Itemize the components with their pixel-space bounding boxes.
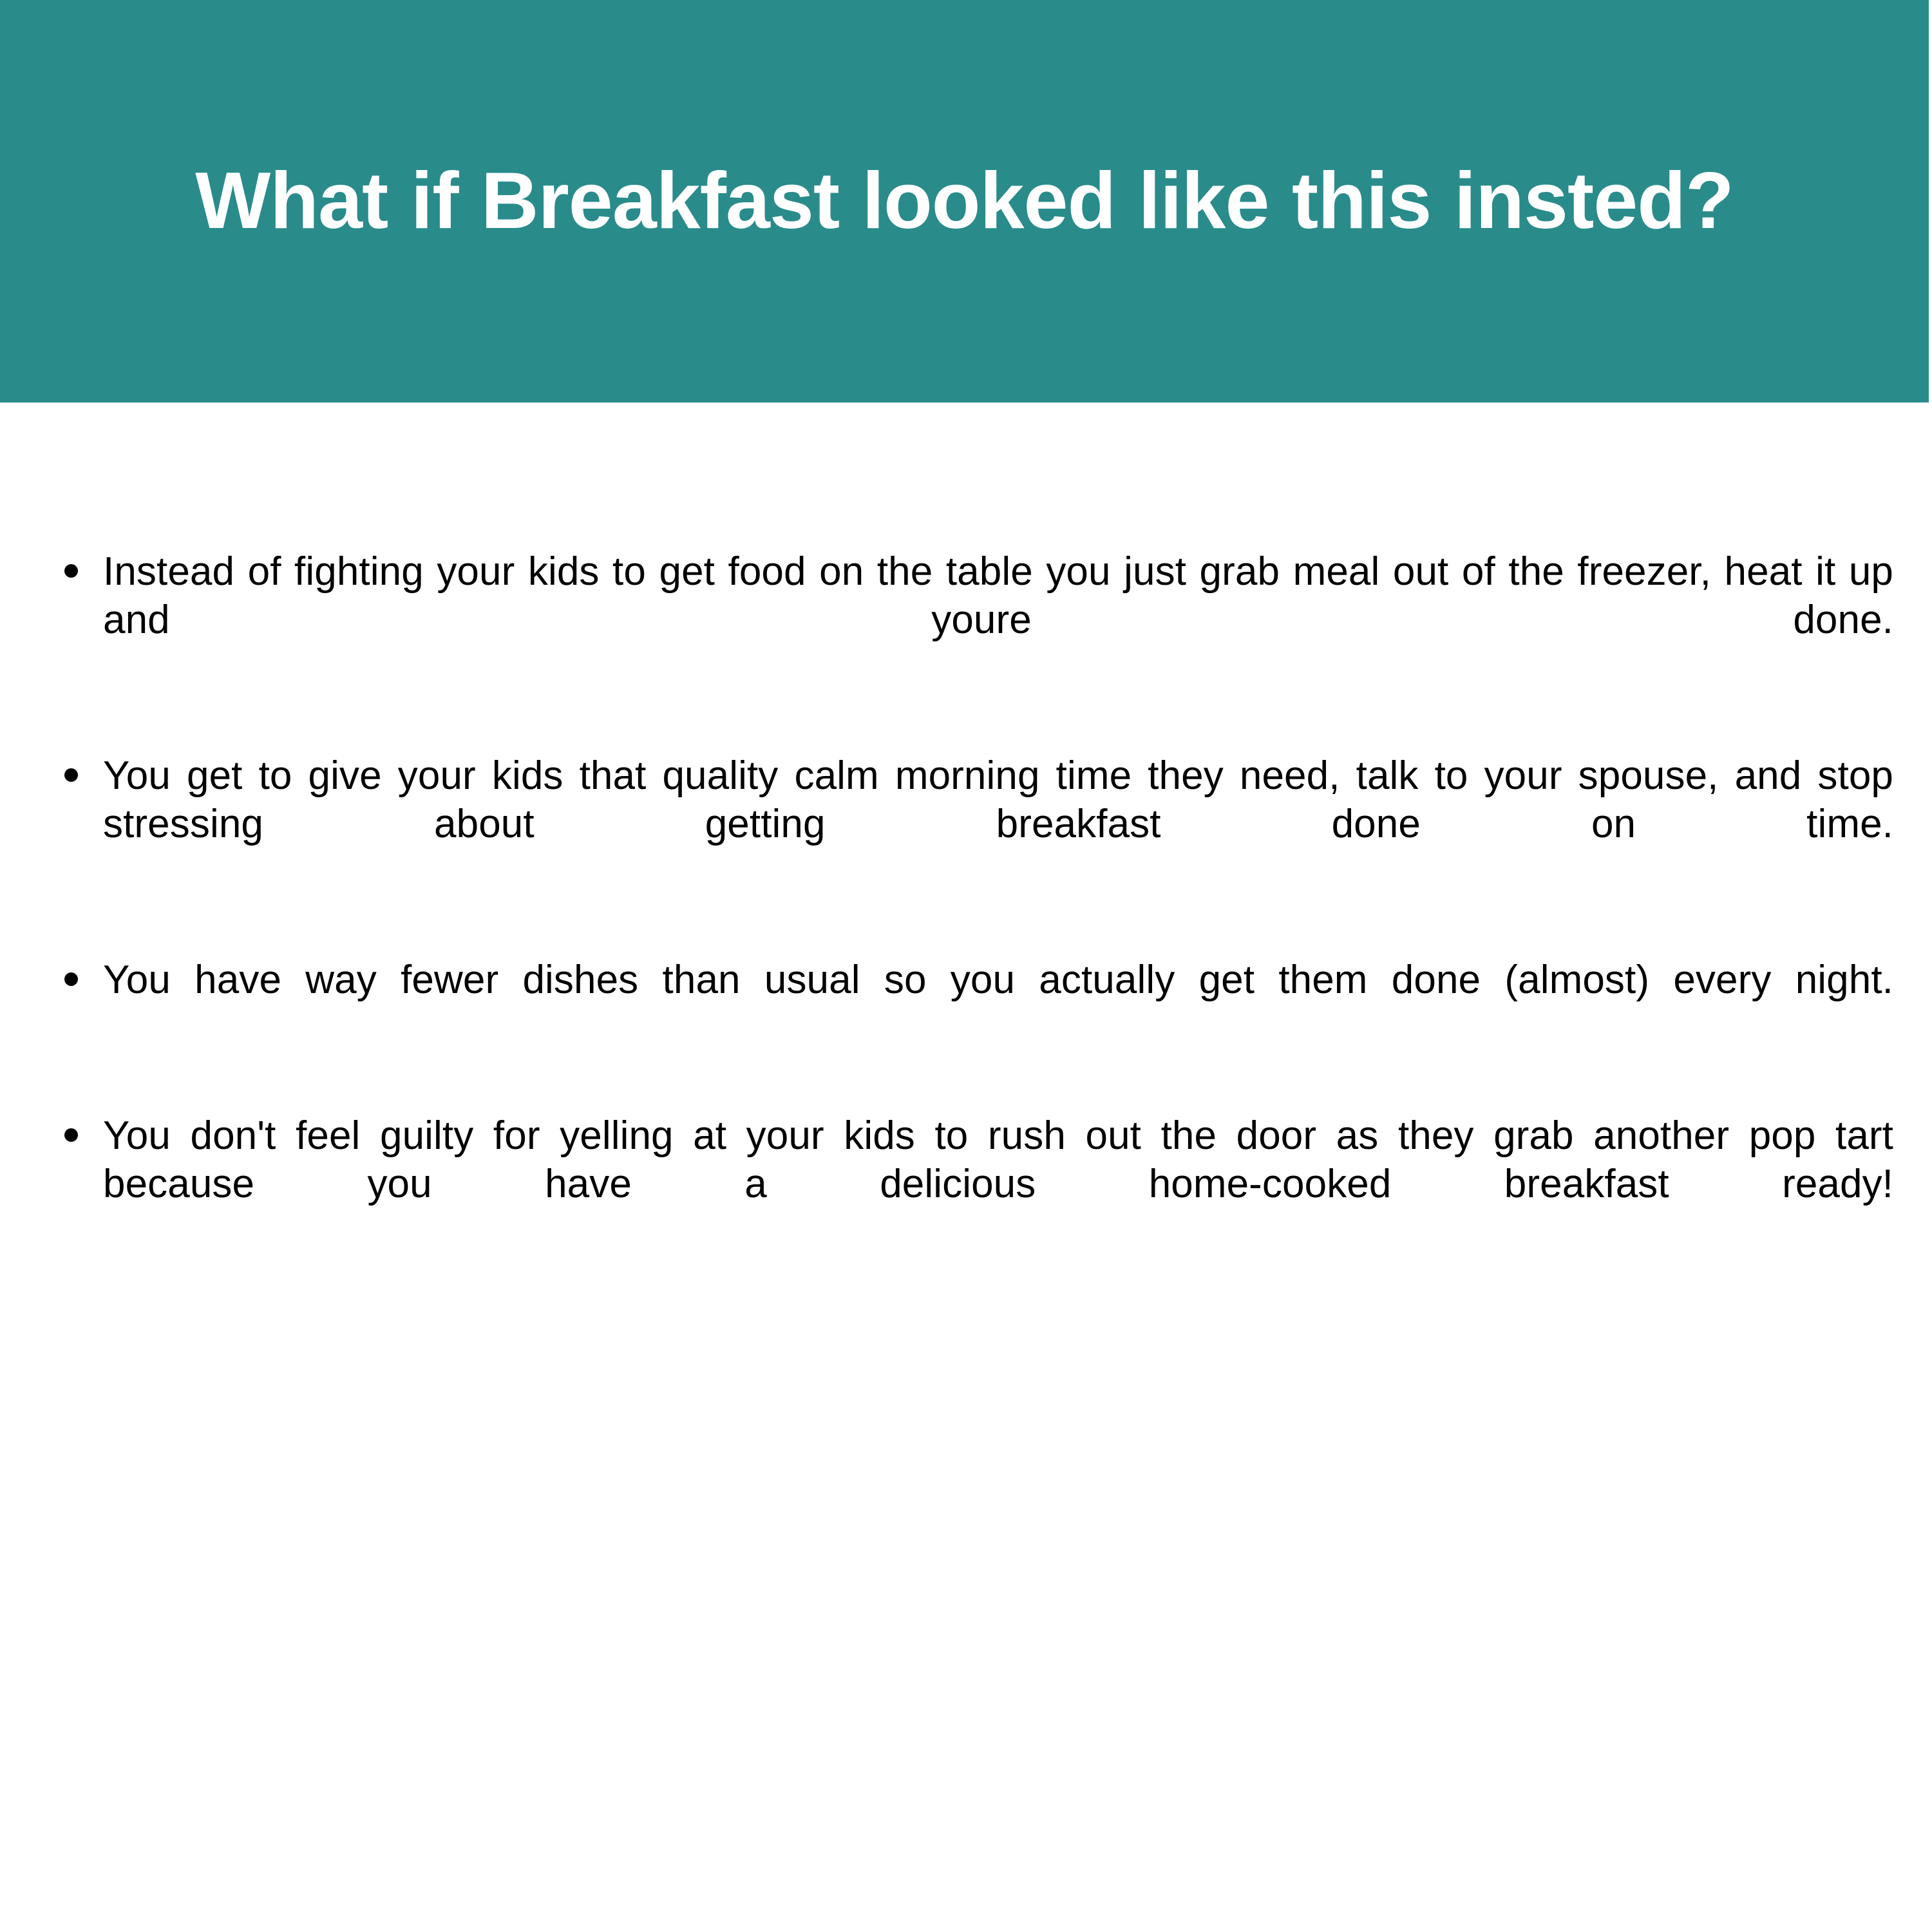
benefit-bullet-list: Instead of fighting your kids to get foo…	[39, 547, 1893, 1256]
bullet-dot-icon	[64, 1128, 78, 1142]
bullet-dot-icon	[64, 564, 78, 578]
slide-root: What if Breakfast looked like this inste…	[0, 0, 1932, 1932]
list-item: You get to give your kids that quality c…	[39, 752, 1893, 896]
title-banner: What if Breakfast looked like this inste…	[0, 0, 1929, 402]
list-item-text: You don't feel guilty for yelling at you…	[103, 1112, 1893, 1256]
list-item: Instead of fighting your kids to get foo…	[39, 547, 1893, 692]
bullet-dot-icon	[64, 768, 78, 782]
list-item-text: You get to give your kids that quality c…	[103, 752, 1893, 896]
list-item: You don't feel guilty for yelling at you…	[39, 1112, 1893, 1256]
list-item-text: Instead of fighting your kids to get foo…	[103, 547, 1893, 692]
page-title: What if Breakfast looked like this inste…	[195, 154, 1733, 248]
bullet-dot-icon	[64, 972, 78, 986]
list-item: You have way fewer dishes than usual so …	[39, 956, 1893, 1052]
list-item-text: You have way fewer dishes than usual so …	[103, 956, 1893, 1052]
body-content: Instead of fighting your kids to get foo…	[0, 402, 1932, 1932]
